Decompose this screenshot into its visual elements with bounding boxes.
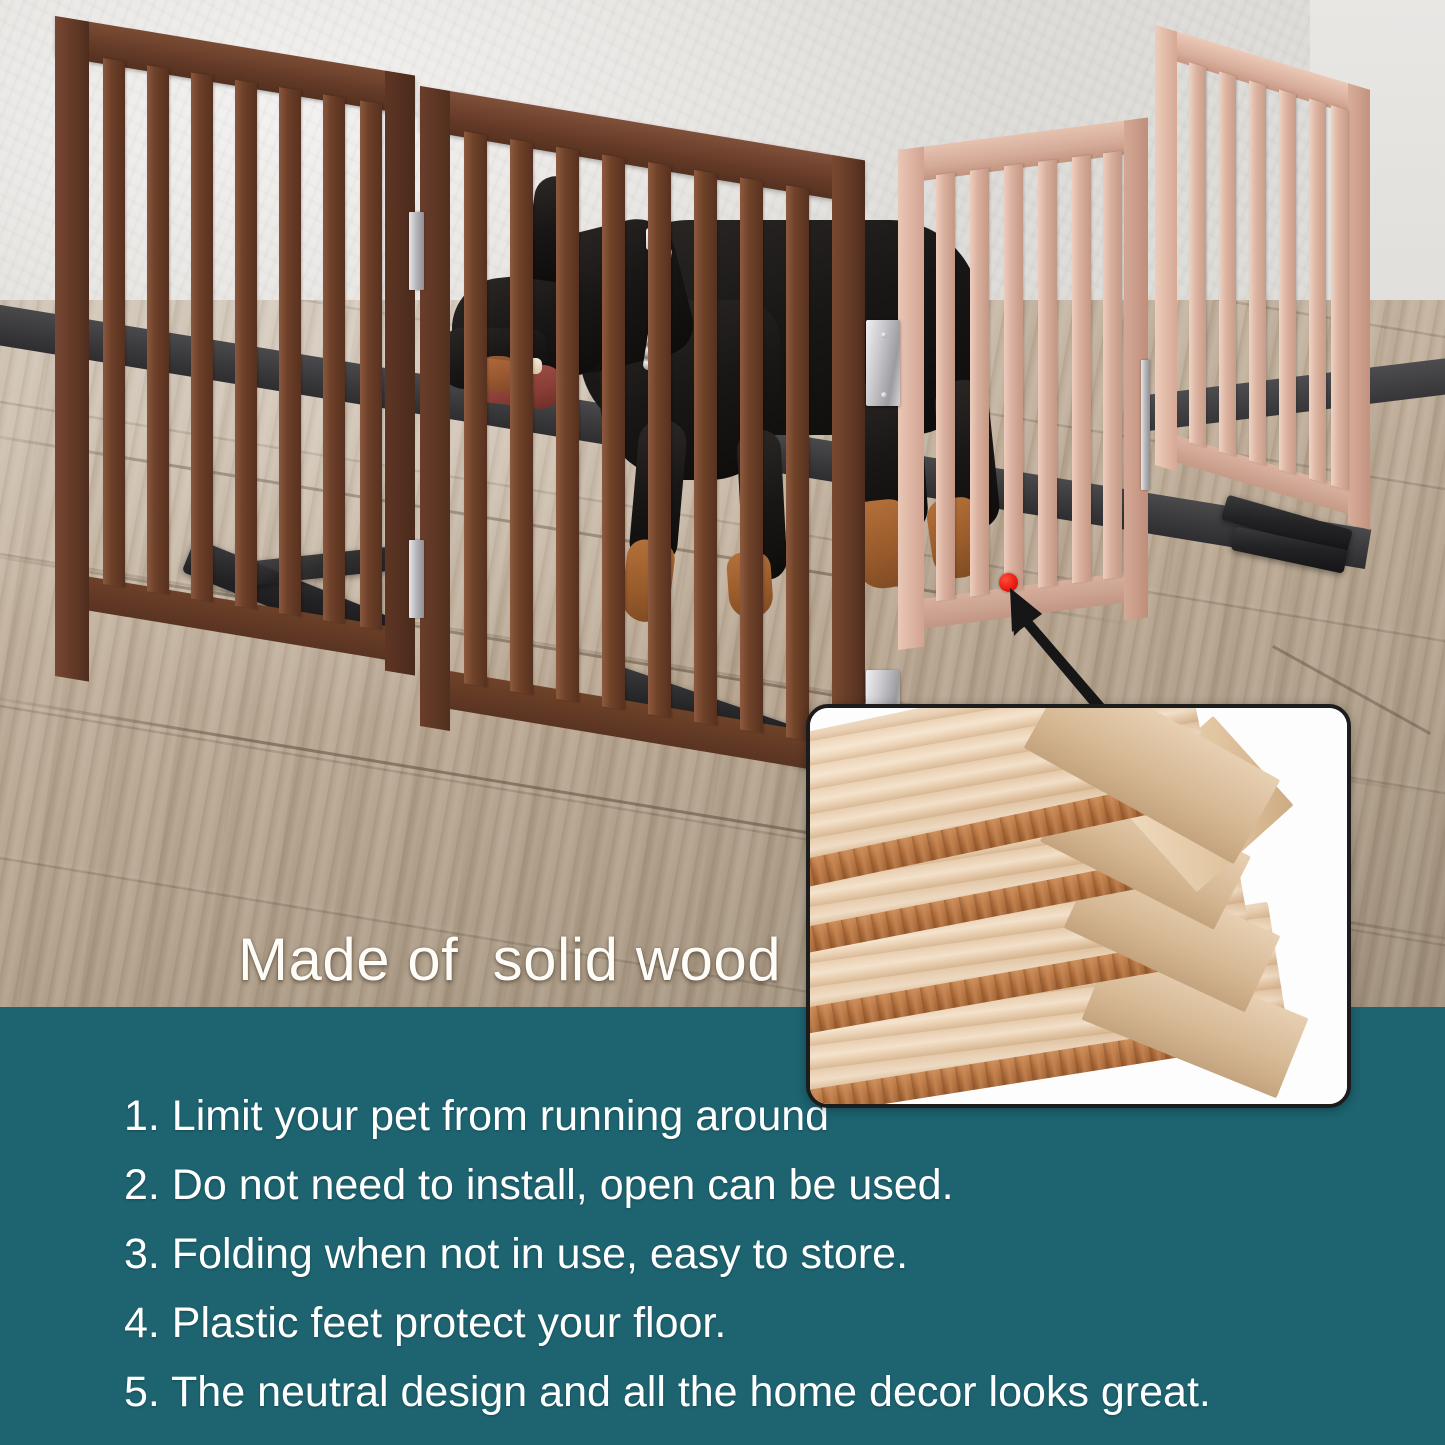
gate-slat — [1004, 164, 1023, 592]
gate-slat — [279, 87, 301, 617]
gate-slat — [147, 65, 169, 595]
gate-slat — [740, 178, 763, 734]
panel-left-stile — [898, 147, 924, 650]
gate-slat — [1189, 62, 1206, 447]
hinge-screw — [881, 392, 887, 398]
hinge-left-upper — [409, 212, 424, 290]
gate-slat — [464, 131, 487, 687]
gate-slat — [235, 80, 257, 610]
gate-slat — [936, 173, 955, 601]
feature-bullet-list: 1. Limit your pet from running around 2.… — [124, 1095, 1374, 1440]
hinge-screw — [881, 332, 887, 338]
hinge-left-lower — [409, 540, 424, 618]
gate-slat — [1219, 71, 1236, 456]
solid-wood-closeup-inset — [806, 704, 1351, 1108]
panel-right-stile — [1348, 83, 1370, 530]
gate-panel-right-b — [1155, 25, 1370, 610]
panel-left-stile — [1155, 25, 1177, 472]
gate-slat — [1249, 80, 1266, 465]
gate-slat — [556, 147, 579, 703]
gate-slat — [103, 58, 125, 588]
headline-made-of-solid-wood: Made of solid wood — [238, 925, 781, 994]
gate-slat — [1331, 105, 1348, 490]
panel-left-stile — [55, 16, 89, 682]
gate-slat — [1309, 98, 1326, 483]
gate-slat — [1038, 159, 1057, 587]
gate-slat — [1103, 151, 1122, 579]
gate-slat — [602, 154, 625, 710]
panel-left-stile — [420, 86, 450, 731]
product-feature-image: Made of solid wood — [0, 0, 1445, 1445]
hinge-right — [1141, 360, 1150, 490]
bullet-item-4: 4. Plastic feet protect your floor. — [124, 1302, 1374, 1345]
bullet-item-3: 3. Folding when not in use, easy to stor… — [124, 1233, 1374, 1276]
gate-slat — [1279, 89, 1296, 474]
gate-slat — [360, 100, 382, 630]
gate-slat — [970, 168, 989, 596]
gate-slat — [191, 73, 213, 603]
gate-slat — [323, 94, 345, 624]
gate-slat — [648, 162, 671, 718]
gate-slat — [786, 185, 809, 741]
gate-panel-left — [55, 16, 415, 746]
gate-slat — [1072, 155, 1091, 583]
bullet-item-2: 2. Do not need to install, open can be u… — [124, 1164, 1374, 1207]
gate-panel-middle — [420, 86, 865, 860]
gate-slat — [510, 139, 533, 695]
bullet-item-5: 5. The neutral design and all the home d… — [124, 1371, 1374, 1414]
gate-slat — [694, 170, 717, 726]
